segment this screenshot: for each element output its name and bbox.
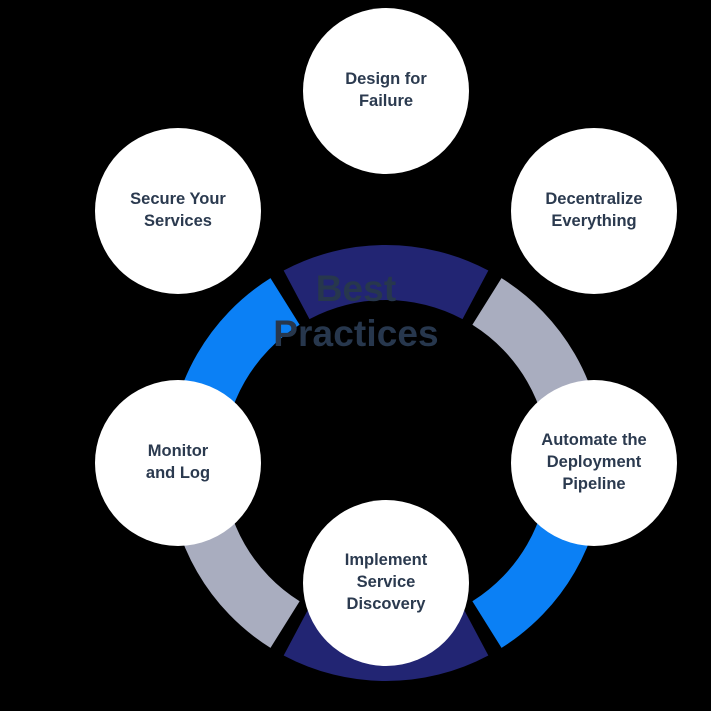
- node-monitor-and-log[interactable]: Monitor and Log: [95, 380, 261, 546]
- node-secure-your-services[interactable]: Secure Your Services: [95, 128, 261, 294]
- node-label-service-discovery: Implement Service Discovery: [339, 550, 434, 616]
- node-design-for-failure[interactable]: Design for Failure: [303, 8, 469, 174]
- node-decentralize[interactable]: Decentralize Everything: [511, 128, 677, 294]
- node-label-design-for-failure: Design for Failure: [339, 69, 433, 113]
- node-service-discovery[interactable]: Implement Service Discovery: [303, 500, 469, 666]
- node-label-secure-your-services: Secure Your Services: [124, 189, 232, 233]
- node-label-decentralize: Decentralize Everything: [539, 189, 648, 233]
- center-title: Best Practices: [231, 266, 481, 356]
- node-automate-pipeline[interactable]: Automate the Deployment Pipeline: [511, 380, 677, 546]
- best-practices-diagram: Best Practices Design for Failure Decent…: [0, 0, 711, 711]
- node-label-automate-pipeline: Automate the Deployment Pipeline: [535, 430, 652, 496]
- node-label-monitor-and-log: Monitor and Log: [140, 441, 216, 485]
